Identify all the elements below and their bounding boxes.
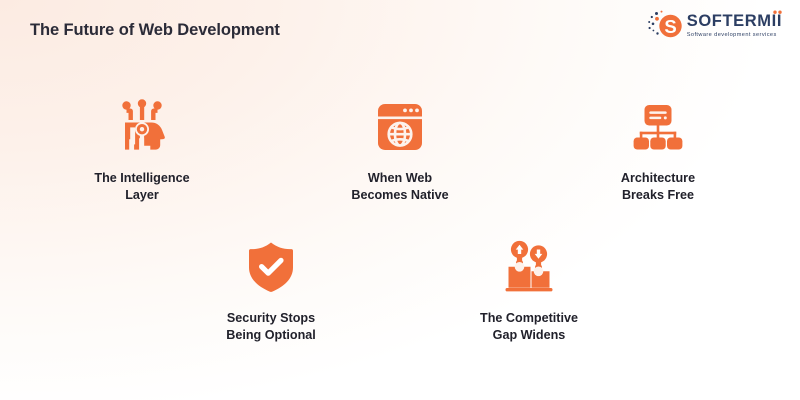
competitive-gap-podium-icon	[498, 236, 560, 298]
page-title: The Future of Web Development	[30, 21, 280, 40]
feature-row-bottom: Security Stops Being Optional	[0, 236, 800, 344]
feature-card-intelligence-layer[interactable]: The Intelligence Layer	[62, 96, 222, 204]
feature-card-web-becomes-native[interactable]: When Web Becomes Native	[320, 96, 480, 204]
feature-card-competitive-gap-widens[interactable]: The Competitive Gap Widens	[449, 236, 609, 344]
logo-wordmark: SOFTERMII	[687, 13, 782, 30]
ai-head-neural-icon	[111, 96, 173, 158]
feature-card-label: The Competitive Gap Widens	[480, 310, 578, 344]
slide-canvas: The Future of Web Development S	[0, 0, 800, 400]
feature-card-label: The Intelligence Layer	[94, 170, 189, 204]
architecture-hierarchy-icon	[627, 96, 689, 158]
shield-check-icon	[240, 236, 302, 298]
logo-umlaut-dots-icon	[773, 10, 782, 16]
feature-row-top: The Intelligence Layer	[0, 96, 800, 204]
logo-wordmark-text: SOFTERMII	[687, 12, 782, 30]
feature-card-label: When Web Becomes Native	[351, 170, 448, 204]
slide-header: The Future of Web Development S	[0, 0, 800, 62]
feature-card-label: Security Stops Being Optional	[226, 310, 316, 344]
logo-text-block: SOFTERMII Software development services	[687, 13, 782, 39]
softermii-s-logo-icon: S	[647, 9, 685, 43]
brand-logo: S SOFTERMII Software development service…	[647, 9, 782, 43]
svg-text:S: S	[664, 16, 676, 37]
browser-globe-icon	[369, 96, 431, 158]
logo-tagline: Software development services	[687, 33, 782, 39]
feature-card-security-stops-being-optional[interactable]: Security Stops Being Optional	[191, 236, 351, 344]
feature-card-architecture-breaks-free[interactable]: Architecture Breaks Free	[578, 96, 738, 204]
feature-card-label: Architecture Breaks Free	[621, 170, 695, 204]
